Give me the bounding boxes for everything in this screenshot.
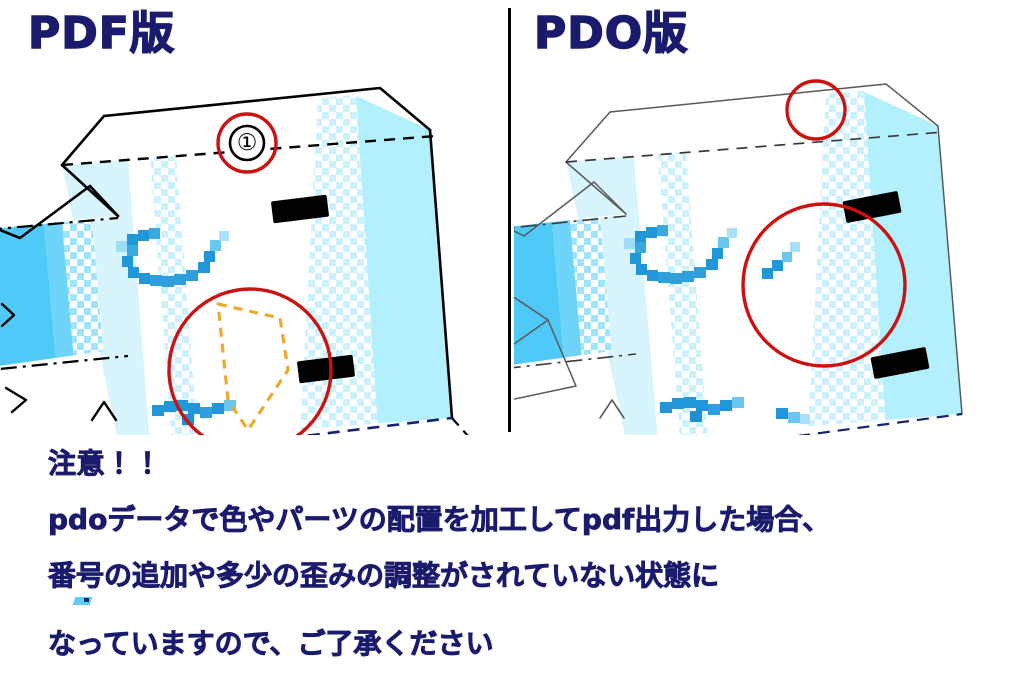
papercraft-svg-pdf: ① — [0, 70, 508, 435]
caption-line-warning: 注意！！ — [48, 442, 162, 482]
caption-line-3: なっていますので、ご了承ください — [48, 622, 493, 662]
screenshot-root: PDF版 PDO版 — [0, 0, 1024, 683]
stray-cyan-mark — [73, 597, 93, 605]
panel-title-pdo: PDO版 — [534, 12, 688, 56]
caption-line-1: pdoデータで色やパーツの配置を加工してpdf出力した場合、 — [48, 498, 830, 538]
panel-divider — [508, 8, 511, 432]
number-marker-label: ① — [237, 130, 258, 155]
papercraft-svg-pdo — [514, 70, 1022, 435]
stray-dark-dot — [84, 598, 89, 602]
number-marker-1: ① — [230, 126, 264, 160]
panel-title-pdf: PDF版 — [28, 12, 175, 56]
papercraft-diagram-pdf: ① — [0, 70, 508, 435]
caption-block: 注意！！ pdoデータで色やパーツの配置を加工してpdf出力した場合、 番号の追… — [0, 432, 1024, 683]
caption-line-2: 番号の追加や多少の歪みの調整がされていない状態に — [48, 554, 719, 594]
papercraft-diagram-pdo — [514, 70, 1022, 435]
